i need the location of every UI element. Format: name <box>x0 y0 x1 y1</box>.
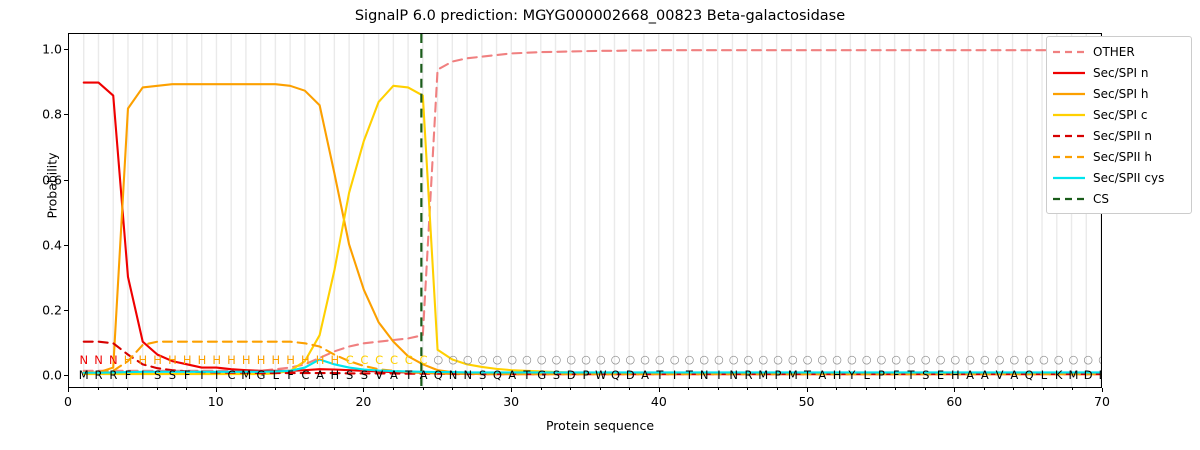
x-minor-tick-mark <box>777 388 778 390</box>
legend-label: Sec/SPII h <box>1093 150 1152 164</box>
x-minor-tick-mark <box>866 388 867 390</box>
legend-label: Sec/SPI c <box>1093 108 1147 122</box>
x-minor-tick-mark <box>186 388 187 390</box>
x-tick-label: 60 <box>934 394 974 409</box>
x-minor-tick-mark <box>570 388 571 390</box>
legend-item: Sec/SPII n <box>1052 125 1186 146</box>
x-minor-tick-mark <box>275 388 276 390</box>
x-tick-mark <box>216 388 217 392</box>
y-tick-mark <box>64 180 68 181</box>
x-tick-mark <box>511 388 512 392</box>
x-tick-label: 0 <box>48 394 88 409</box>
legend-swatch-sec-spi-n <box>1052 67 1086 79</box>
sequence-annotation-cell: ○ <box>1092 354 1102 366</box>
x-axis-label: Protein sequence <box>0 418 1200 433</box>
x-tick-mark <box>659 388 660 392</box>
y-tick-mark <box>64 310 68 311</box>
plot-area: NMNRNRHFHIHSHSHFHIHIHCHMHGHLHFHCHAHHCSCS… <box>68 33 1102 388</box>
x-tick-label: 30 <box>491 394 531 409</box>
legend-swatch-cs <box>1052 193 1086 205</box>
signalp-prediction-figure: SignalP 6.0 prediction: MGYG000002668_00… <box>0 0 1200 450</box>
x-minor-tick-mark <box>304 388 305 390</box>
x-tick-mark <box>363 388 364 392</box>
x-tick-mark <box>954 388 955 392</box>
legend-label: Sec/SPII cys <box>1093 171 1164 185</box>
x-minor-tick-mark <box>925 388 926 390</box>
legend-swatch-other <box>1052 46 1086 58</box>
legend-swatch-sec-spi-c <box>1052 109 1086 121</box>
legend-swatch-sec-spii-h <box>1052 151 1086 163</box>
x-minor-tick-mark <box>245 388 246 390</box>
legend-swatch-sec-spii-cys <box>1052 172 1086 184</box>
x-minor-tick-mark <box>157 388 158 390</box>
y-tick-label: 0.8 <box>16 107 62 122</box>
legend-label: Sec/SPII n <box>1093 129 1152 143</box>
y-tick-mark <box>64 114 68 115</box>
chart-legend: OTHERSec/SPI nSec/SPI hSec/SPI cSec/SPII… <box>1046 36 1192 214</box>
x-minor-tick-mark <box>452 388 453 390</box>
x-tick-mark <box>807 388 808 392</box>
x-minor-tick-mark <box>127 388 128 390</box>
x-minor-tick-mark <box>600 388 601 390</box>
y-tick-label: 0.6 <box>16 172 62 187</box>
x-minor-tick-mark <box>984 388 985 390</box>
sequence-residue-cell: D <box>1092 369 1102 381</box>
x-minor-tick-mark <box>98 388 99 390</box>
x-tick-label: 50 <box>787 394 827 409</box>
x-tick-label: 70 <box>1082 394 1122 409</box>
x-minor-tick-mark <box>1043 388 1044 390</box>
y-tick-label: 1.0 <box>16 42 62 57</box>
legend-item: Sec/SPI h <box>1052 83 1186 104</box>
legend-swatch-sec-spii-n <box>1052 130 1086 142</box>
legend-item: Sec/SPI n <box>1052 62 1186 83</box>
legend-item: CS <box>1052 188 1186 209</box>
sequence-band: NMNRNRHFHIHSHSHFHIHIHCHMHGHLHFHCHAHHCSCS… <box>69 34 1101 387</box>
x-minor-tick-mark <box>895 388 896 390</box>
x-tick-mark <box>68 388 69 392</box>
x-tick-label: 20 <box>343 394 383 409</box>
y-tick-label: 0.4 <box>16 237 62 252</box>
x-minor-tick-mark <box>688 388 689 390</box>
x-minor-tick-mark <box>423 388 424 390</box>
x-minor-tick-mark <box>1072 388 1073 390</box>
x-minor-tick-mark <box>482 388 483 390</box>
legend-label: OTHER <box>1093 45 1135 59</box>
x-minor-tick-mark <box>836 388 837 390</box>
x-tick-mark <box>1102 388 1103 392</box>
x-tick-label: 40 <box>639 394 679 409</box>
x-minor-tick-mark <box>718 388 719 390</box>
legend-swatch-sec-spi-h <box>1052 88 1086 100</box>
x-tick-label: 10 <box>196 394 236 409</box>
legend-item: Sec/SPII h <box>1052 146 1186 167</box>
y-tick-mark <box>64 245 68 246</box>
y-tick-mark <box>64 375 68 376</box>
legend-label: CS <box>1093 192 1109 206</box>
legend-item: Sec/SPI c <box>1052 104 1186 125</box>
y-tick-label: 0.2 <box>16 302 62 317</box>
legend-item: OTHER <box>1052 41 1186 62</box>
x-minor-tick-mark <box>334 388 335 390</box>
chart-title: SignalP 6.0 prediction: MGYG000002668_00… <box>0 8 1200 24</box>
x-minor-tick-mark <box>747 388 748 390</box>
x-minor-tick-mark <box>1013 388 1014 390</box>
x-minor-tick-mark <box>629 388 630 390</box>
legend-label: Sec/SPI h <box>1093 87 1148 101</box>
y-tick-label: 0.0 <box>16 367 62 382</box>
x-minor-tick-mark <box>541 388 542 390</box>
legend-label: Sec/SPI n <box>1093 66 1148 80</box>
x-minor-tick-mark <box>393 388 394 390</box>
y-tick-mark <box>64 49 68 50</box>
legend-item: Sec/SPII cys <box>1052 167 1186 188</box>
